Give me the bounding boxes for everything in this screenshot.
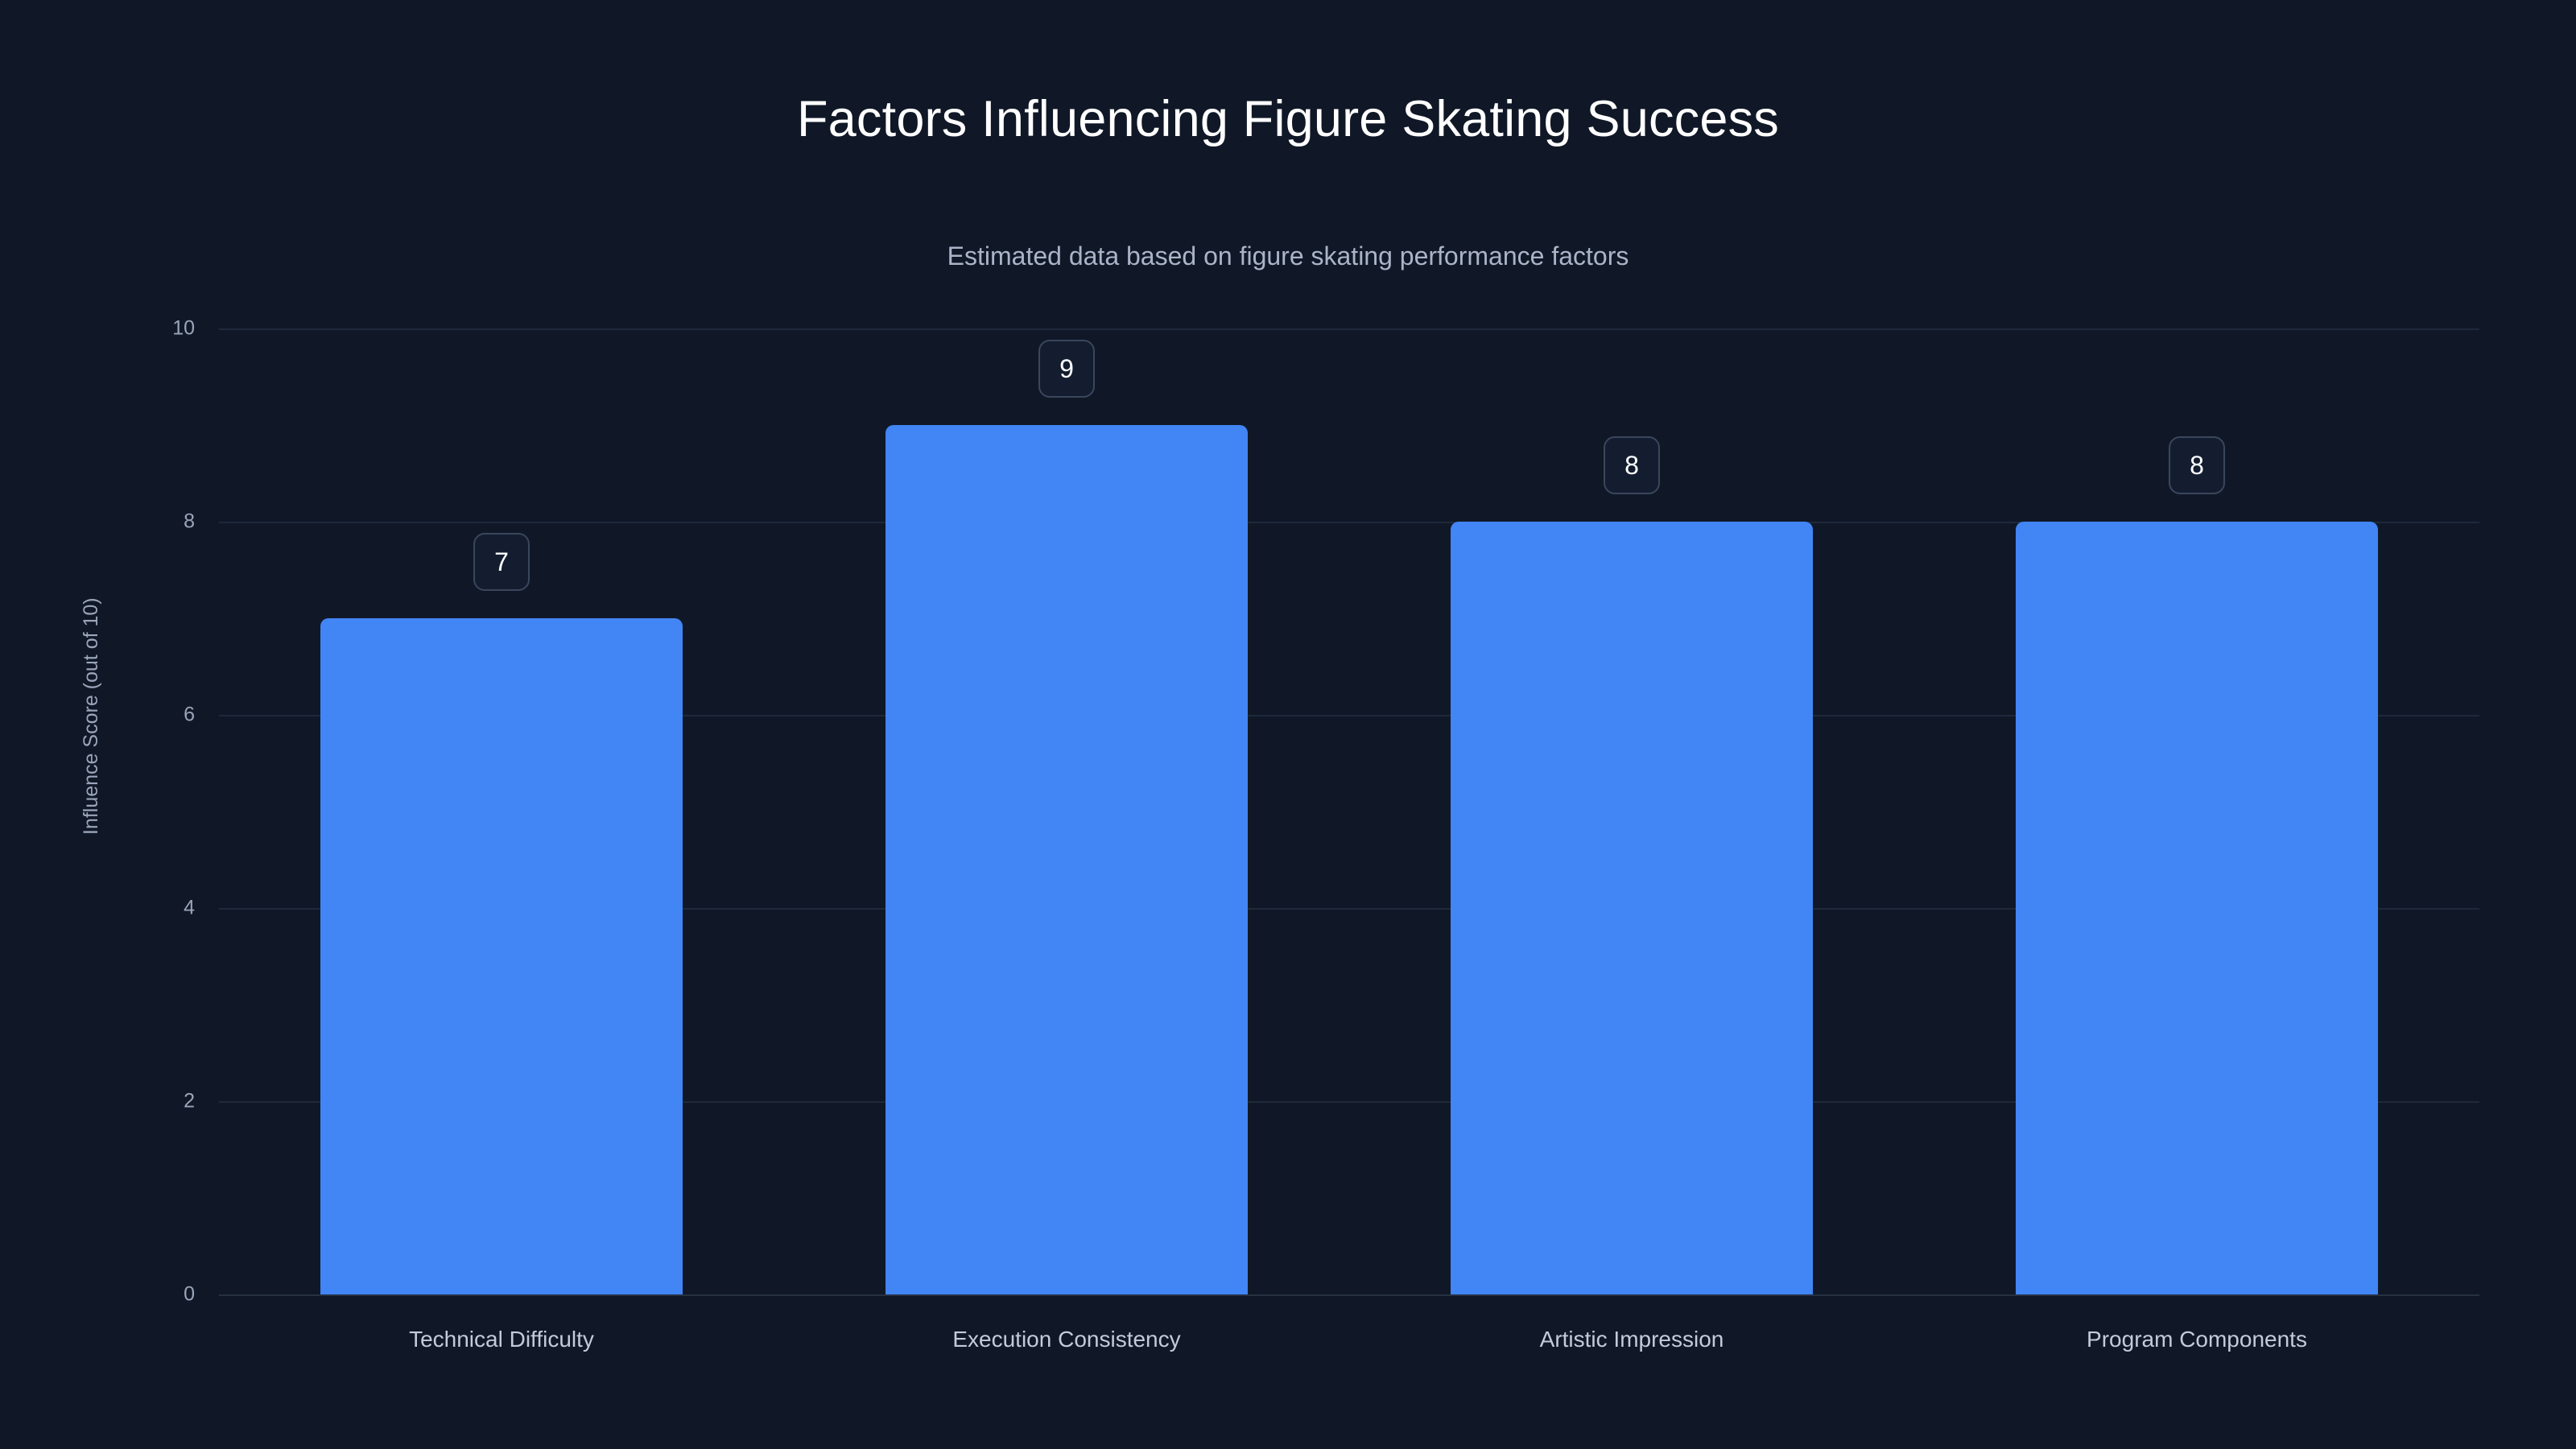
chart-subtitle: Estimated data based on figure skating p…	[0, 242, 2576, 271]
bar[interactable]	[320, 618, 683, 1294]
chart-title: Factors Influencing Figure Skating Succe…	[0, 90, 2576, 148]
bar-value-badge: 7	[473, 533, 530, 591]
x-axis-tick-label: Artistic Impression	[1349, 1327, 1914, 1352]
y-axis-tick-label: 10	[98, 317, 195, 341]
bar-slot: 8	[2016, 328, 2378, 1294]
y-axis-tick-label: 8	[98, 510, 195, 534]
bar-value-badge: 8	[2169, 436, 2225, 494]
bar[interactable]	[1451, 522, 1813, 1294]
y-axis-tick-label: 0	[98, 1283, 195, 1307]
gridline	[219, 1294, 2479, 1296]
x-axis-tick-label: Execution Consistency	[784, 1327, 1349, 1352]
y-axis-tick-label: 6	[98, 704, 195, 727]
x-axis-tick-label: Program Components	[1914, 1327, 2479, 1352]
bar-series: 7988	[219, 328, 2479, 1294]
bar-value-badge: 8	[1604, 436, 1660, 494]
bar[interactable]	[885, 425, 1248, 1294]
chart-canvas: Factors Influencing Figure Skating Succe…	[0, 0, 2576, 1449]
y-axis-tick-label: 2	[98, 1090, 195, 1113]
bar-slot: 8	[1451, 328, 1813, 1294]
bar[interactable]	[2016, 522, 2378, 1294]
bar-value-badge: 9	[1038, 340, 1095, 398]
bar-slot: 9	[885, 328, 1248, 1294]
x-axis-tick-labels: Technical DifficultyExecution Consistenc…	[219, 1327, 2479, 1367]
x-axis-tick-label: Technical Difficulty	[219, 1327, 784, 1352]
y-axis-tick-label: 4	[98, 897, 195, 920]
bar-slot: 7	[320, 328, 683, 1294]
